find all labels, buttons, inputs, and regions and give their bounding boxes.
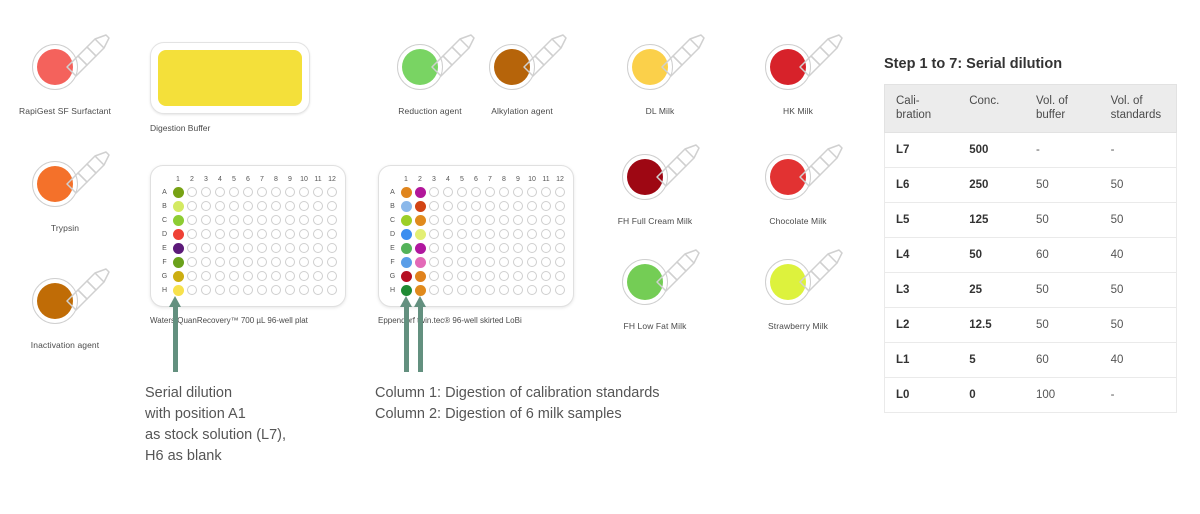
well-cell[interactable] (511, 227, 525, 241)
well[interactable] (513, 243, 524, 254)
well-cell[interactable] (413, 199, 427, 213)
well[interactable] (429, 271, 440, 282)
well[interactable] (499, 271, 510, 282)
well-cell[interactable] (399, 241, 413, 255)
well-cell[interactable] (311, 255, 325, 269)
well[interactable] (257, 257, 268, 268)
well[interactable] (271, 215, 282, 226)
well-cell[interactable] (427, 241, 441, 255)
well[interactable] (401, 187, 412, 198)
well-cell[interactable] (171, 199, 185, 213)
well-cell[interactable] (199, 185, 213, 199)
well-cell[interactable] (227, 227, 241, 241)
well-cell[interactable] (469, 255, 483, 269)
well-cell[interactable] (469, 227, 483, 241)
well[interactable] (173, 187, 184, 198)
well-cell[interactable] (497, 199, 511, 213)
well-cell[interactable] (213, 269, 227, 283)
well-cell[interactable] (441, 241, 455, 255)
well-cell[interactable] (269, 213, 283, 227)
well[interactable] (257, 187, 268, 198)
well-cell[interactable] (427, 213, 441, 227)
well-cell[interactable] (255, 283, 269, 297)
well-cell[interactable] (399, 269, 413, 283)
well[interactable] (499, 285, 510, 296)
well[interactable] (187, 215, 198, 226)
well[interactable] (229, 187, 240, 198)
well[interactable] (243, 271, 254, 282)
well[interactable] (327, 215, 338, 226)
well-cell[interactable] (185, 199, 199, 213)
well-cell[interactable] (441, 185, 455, 199)
well[interactable] (443, 229, 454, 240)
well-cell[interactable] (297, 185, 311, 199)
well-cell[interactable] (255, 199, 269, 213)
well-cell[interactable] (399, 213, 413, 227)
well[interactable] (215, 229, 226, 240)
well[interactable] (443, 243, 454, 254)
well-cell[interactable] (297, 213, 311, 227)
well[interactable] (513, 285, 524, 296)
well[interactable] (485, 243, 496, 254)
well-cell[interactable] (469, 185, 483, 199)
well-cell[interactable] (413, 269, 427, 283)
well[interactable] (201, 229, 212, 240)
well-cell[interactable] (525, 283, 539, 297)
well[interactable] (429, 257, 440, 268)
well-cell[interactable] (539, 241, 553, 255)
well[interactable] (327, 271, 338, 282)
well-cell[interactable] (185, 269, 199, 283)
well[interactable] (443, 187, 454, 198)
well-cell[interactable] (269, 185, 283, 199)
well-cell[interactable] (455, 255, 469, 269)
well[interactable] (229, 201, 240, 212)
well[interactable] (271, 229, 282, 240)
well[interactable] (313, 271, 324, 282)
well[interactable] (415, 229, 426, 240)
well-cell[interactable] (553, 283, 567, 297)
well[interactable] (173, 271, 184, 282)
well[interactable] (271, 243, 282, 254)
well[interactable] (243, 257, 254, 268)
well-cell[interactable] (269, 241, 283, 255)
well[interactable] (471, 187, 482, 198)
well[interactable] (541, 201, 552, 212)
well-cell[interactable] (497, 227, 511, 241)
well-cell[interactable] (241, 227, 255, 241)
well[interactable] (485, 271, 496, 282)
well-cell[interactable] (255, 255, 269, 269)
well[interactable] (485, 257, 496, 268)
well-cell[interactable] (483, 227, 497, 241)
well[interactable] (457, 201, 468, 212)
well[interactable] (299, 243, 310, 254)
well[interactable] (527, 285, 538, 296)
well[interactable] (201, 271, 212, 282)
well-cell[interactable] (497, 241, 511, 255)
well[interactable] (429, 243, 440, 254)
well[interactable] (527, 229, 538, 240)
well-cell[interactable] (199, 283, 213, 297)
well-cell[interactable] (199, 241, 213, 255)
well[interactable] (415, 271, 426, 282)
well-cell[interactable] (553, 269, 567, 283)
well-cell[interactable] (455, 199, 469, 213)
well-cell[interactable] (325, 227, 339, 241)
well-cell[interactable] (469, 241, 483, 255)
well-cell[interactable] (399, 199, 413, 213)
well-cell[interactable] (227, 283, 241, 297)
well-cell[interactable] (399, 255, 413, 269)
well-cell[interactable] (325, 255, 339, 269)
well-cell[interactable] (171, 185, 185, 199)
well-cell[interactable] (297, 199, 311, 213)
well-cell[interactable] (539, 185, 553, 199)
well[interactable] (173, 201, 184, 212)
well-cell[interactable] (511, 283, 525, 297)
well-cell[interactable] (525, 241, 539, 255)
well[interactable] (201, 243, 212, 254)
well[interactable] (327, 285, 338, 296)
well-cell[interactable] (297, 227, 311, 241)
well-cell[interactable] (325, 283, 339, 297)
well-cell[interactable] (185, 241, 199, 255)
well[interactable] (401, 229, 412, 240)
well[interactable] (527, 201, 538, 212)
well-cell[interactable] (311, 199, 325, 213)
well[interactable] (187, 201, 198, 212)
well[interactable] (443, 271, 454, 282)
well-cell[interactable] (455, 185, 469, 199)
well-cell[interactable] (497, 283, 511, 297)
well-cell[interactable] (297, 269, 311, 283)
well-cell[interactable] (283, 283, 297, 297)
well-cell[interactable] (553, 213, 567, 227)
well-cell[interactable] (441, 283, 455, 297)
well[interactable] (541, 215, 552, 226)
well-cell[interactable] (185, 255, 199, 269)
well[interactable] (499, 257, 510, 268)
well[interactable] (285, 243, 296, 254)
well-cell[interactable] (227, 269, 241, 283)
well-cell[interactable] (413, 241, 427, 255)
well[interactable] (215, 285, 226, 296)
well[interactable] (401, 215, 412, 226)
well[interactable] (457, 271, 468, 282)
well-cell[interactable] (241, 199, 255, 213)
well[interactable] (271, 201, 282, 212)
well-cell[interactable] (269, 199, 283, 213)
well-cell[interactable] (171, 269, 185, 283)
well-cell[interactable] (325, 199, 339, 213)
well[interactable] (201, 257, 212, 268)
well[interactable] (271, 285, 282, 296)
well[interactable] (555, 229, 566, 240)
well-cell[interactable] (311, 241, 325, 255)
well[interactable] (299, 229, 310, 240)
well-cell[interactable] (283, 227, 297, 241)
well-cell[interactable] (525, 213, 539, 227)
well[interactable] (415, 243, 426, 254)
well-cell[interactable] (255, 185, 269, 199)
well-cell[interactable] (483, 241, 497, 255)
well[interactable] (527, 215, 538, 226)
well[interactable] (215, 271, 226, 282)
well-cell[interactable] (241, 185, 255, 199)
well[interactable] (471, 201, 482, 212)
well[interactable] (457, 257, 468, 268)
well[interactable] (513, 187, 524, 198)
well[interactable] (173, 215, 184, 226)
well[interactable] (285, 271, 296, 282)
well-cell[interactable] (283, 269, 297, 283)
well[interactable] (173, 243, 184, 254)
well[interactable] (513, 257, 524, 268)
well[interactable] (513, 229, 524, 240)
well-cell[interactable] (269, 255, 283, 269)
well[interactable] (401, 257, 412, 268)
well[interactable] (555, 243, 566, 254)
well-cell[interactable] (497, 255, 511, 269)
well[interactable] (485, 215, 496, 226)
well[interactable] (229, 271, 240, 282)
well[interactable] (471, 229, 482, 240)
well[interactable] (173, 229, 184, 240)
well[interactable] (457, 215, 468, 226)
well-cell[interactable] (553, 227, 567, 241)
well[interactable] (541, 187, 552, 198)
well-cell[interactable] (311, 227, 325, 241)
well-cell[interactable] (427, 227, 441, 241)
well-cell[interactable] (483, 269, 497, 283)
well[interactable] (471, 257, 482, 268)
well-cell[interactable] (455, 269, 469, 283)
well[interactable] (513, 201, 524, 212)
well[interactable] (187, 285, 198, 296)
well-cell[interactable] (525, 185, 539, 199)
well-cell[interactable] (213, 185, 227, 199)
well-cell[interactable] (497, 269, 511, 283)
well[interactable] (527, 243, 538, 254)
well[interactable] (201, 187, 212, 198)
well-cell[interactable] (171, 241, 185, 255)
well[interactable] (429, 215, 440, 226)
well[interactable] (429, 285, 440, 296)
well-cell[interactable] (269, 283, 283, 297)
well-cell[interactable] (525, 255, 539, 269)
well[interactable] (555, 187, 566, 198)
well[interactable] (229, 229, 240, 240)
well-cell[interactable] (171, 255, 185, 269)
well[interactable] (285, 229, 296, 240)
well-cell[interactable] (311, 283, 325, 297)
well[interactable] (327, 187, 338, 198)
well[interactable] (415, 187, 426, 198)
well-cell[interactable] (171, 227, 185, 241)
well-cell[interactable] (185, 185, 199, 199)
well[interactable] (555, 215, 566, 226)
well-cell[interactable] (311, 185, 325, 199)
well[interactable] (555, 201, 566, 212)
well-cell[interactable] (241, 269, 255, 283)
well[interactable] (499, 243, 510, 254)
well-cell[interactable] (399, 227, 413, 241)
well[interactable] (243, 201, 254, 212)
well[interactable] (215, 201, 226, 212)
well[interactable] (299, 201, 310, 212)
well-cell[interactable] (241, 283, 255, 297)
well[interactable] (401, 285, 412, 296)
well[interactable] (285, 215, 296, 226)
well-cell[interactable] (199, 269, 213, 283)
well[interactable] (499, 229, 510, 240)
well[interactable] (401, 243, 412, 254)
well-cell[interactable] (511, 269, 525, 283)
well-cell[interactable] (413, 185, 427, 199)
well[interactable] (257, 201, 268, 212)
well[interactable] (485, 187, 496, 198)
well[interactable] (187, 271, 198, 282)
well[interactable] (285, 187, 296, 198)
well-cell[interactable] (199, 255, 213, 269)
well[interactable] (313, 201, 324, 212)
well[interactable] (215, 215, 226, 226)
well-cell[interactable] (241, 213, 255, 227)
well[interactable] (327, 201, 338, 212)
well[interactable] (555, 271, 566, 282)
well[interactable] (313, 285, 324, 296)
well[interactable] (313, 229, 324, 240)
well-cell[interactable] (539, 227, 553, 241)
well[interactable] (555, 285, 566, 296)
well-cell[interactable] (213, 199, 227, 213)
well-cell[interactable] (283, 199, 297, 213)
well-cell[interactable] (185, 213, 199, 227)
well[interactable] (327, 243, 338, 254)
well-cell[interactable] (227, 241, 241, 255)
well-cell[interactable] (227, 213, 241, 227)
well-cell[interactable] (483, 213, 497, 227)
well-cell[interactable] (539, 213, 553, 227)
well-cell[interactable] (441, 199, 455, 213)
well[interactable] (229, 285, 240, 296)
well[interactable] (485, 229, 496, 240)
well-cell[interactable] (311, 269, 325, 283)
well[interactable] (257, 215, 268, 226)
well-cell[interactable] (283, 213, 297, 227)
well[interactable] (471, 215, 482, 226)
well-cell[interactable] (283, 241, 297, 255)
well[interactable] (187, 257, 198, 268)
well[interactable] (257, 229, 268, 240)
well[interactable] (443, 285, 454, 296)
well[interactable] (173, 257, 184, 268)
well[interactable] (201, 215, 212, 226)
well-cell[interactable] (227, 255, 241, 269)
well[interactable] (313, 257, 324, 268)
well[interactable] (257, 243, 268, 254)
well[interactable] (527, 257, 538, 268)
well[interactable] (187, 243, 198, 254)
well-cell[interactable] (553, 241, 567, 255)
well[interactable] (415, 257, 426, 268)
well-cell[interactable] (469, 283, 483, 297)
well-cell[interactable] (255, 227, 269, 241)
well-cell[interactable] (427, 255, 441, 269)
well[interactable] (527, 187, 538, 198)
well-cell[interactable] (483, 185, 497, 199)
well[interactable] (173, 285, 184, 296)
well-cell[interactable] (227, 185, 241, 199)
well[interactable] (299, 271, 310, 282)
well[interactable] (499, 215, 510, 226)
well-cell[interactable] (255, 269, 269, 283)
well[interactable] (499, 187, 510, 198)
well-cell[interactable] (441, 255, 455, 269)
well-cell[interactable] (469, 199, 483, 213)
well[interactable] (429, 187, 440, 198)
well-cell[interactable] (325, 269, 339, 283)
well[interactable] (457, 243, 468, 254)
well-cell[interactable] (483, 255, 497, 269)
well[interactable] (243, 215, 254, 226)
well[interactable] (257, 271, 268, 282)
well[interactable] (187, 229, 198, 240)
well[interactable] (327, 229, 338, 240)
well-cell[interactable] (427, 199, 441, 213)
well-cell[interactable] (553, 199, 567, 213)
well-cell[interactable] (269, 227, 283, 241)
well[interactable] (229, 257, 240, 268)
well-cell[interactable] (241, 241, 255, 255)
well[interactable] (527, 271, 538, 282)
well-cell[interactable] (455, 213, 469, 227)
well[interactable] (215, 187, 226, 198)
well[interactable] (401, 201, 412, 212)
well-cell[interactable] (199, 213, 213, 227)
well[interactable] (499, 201, 510, 212)
well-cell[interactable] (213, 213, 227, 227)
well[interactable] (471, 271, 482, 282)
well-cell[interactable] (525, 227, 539, 241)
well-cell[interactable] (413, 283, 427, 297)
well[interactable] (457, 229, 468, 240)
well-cell[interactable] (325, 185, 339, 199)
well[interactable] (513, 215, 524, 226)
well-cell[interactable] (325, 213, 339, 227)
well-cell[interactable] (213, 241, 227, 255)
well-cell[interactable] (427, 269, 441, 283)
well[interactable] (471, 243, 482, 254)
well-cell[interactable] (199, 227, 213, 241)
well-cell[interactable] (413, 213, 427, 227)
well-cell[interactable] (269, 269, 283, 283)
well[interactable] (457, 187, 468, 198)
well[interactable] (285, 257, 296, 268)
well[interactable] (415, 215, 426, 226)
well-cell[interactable] (539, 199, 553, 213)
well-cell[interactable] (283, 255, 297, 269)
well[interactable] (443, 201, 454, 212)
well-cell[interactable] (511, 213, 525, 227)
well[interactable] (271, 187, 282, 198)
well-cell[interactable] (483, 199, 497, 213)
well-cell[interactable] (497, 213, 511, 227)
well[interactable] (215, 257, 226, 268)
well-cell[interactable] (255, 241, 269, 255)
well-cell[interactable] (297, 255, 311, 269)
